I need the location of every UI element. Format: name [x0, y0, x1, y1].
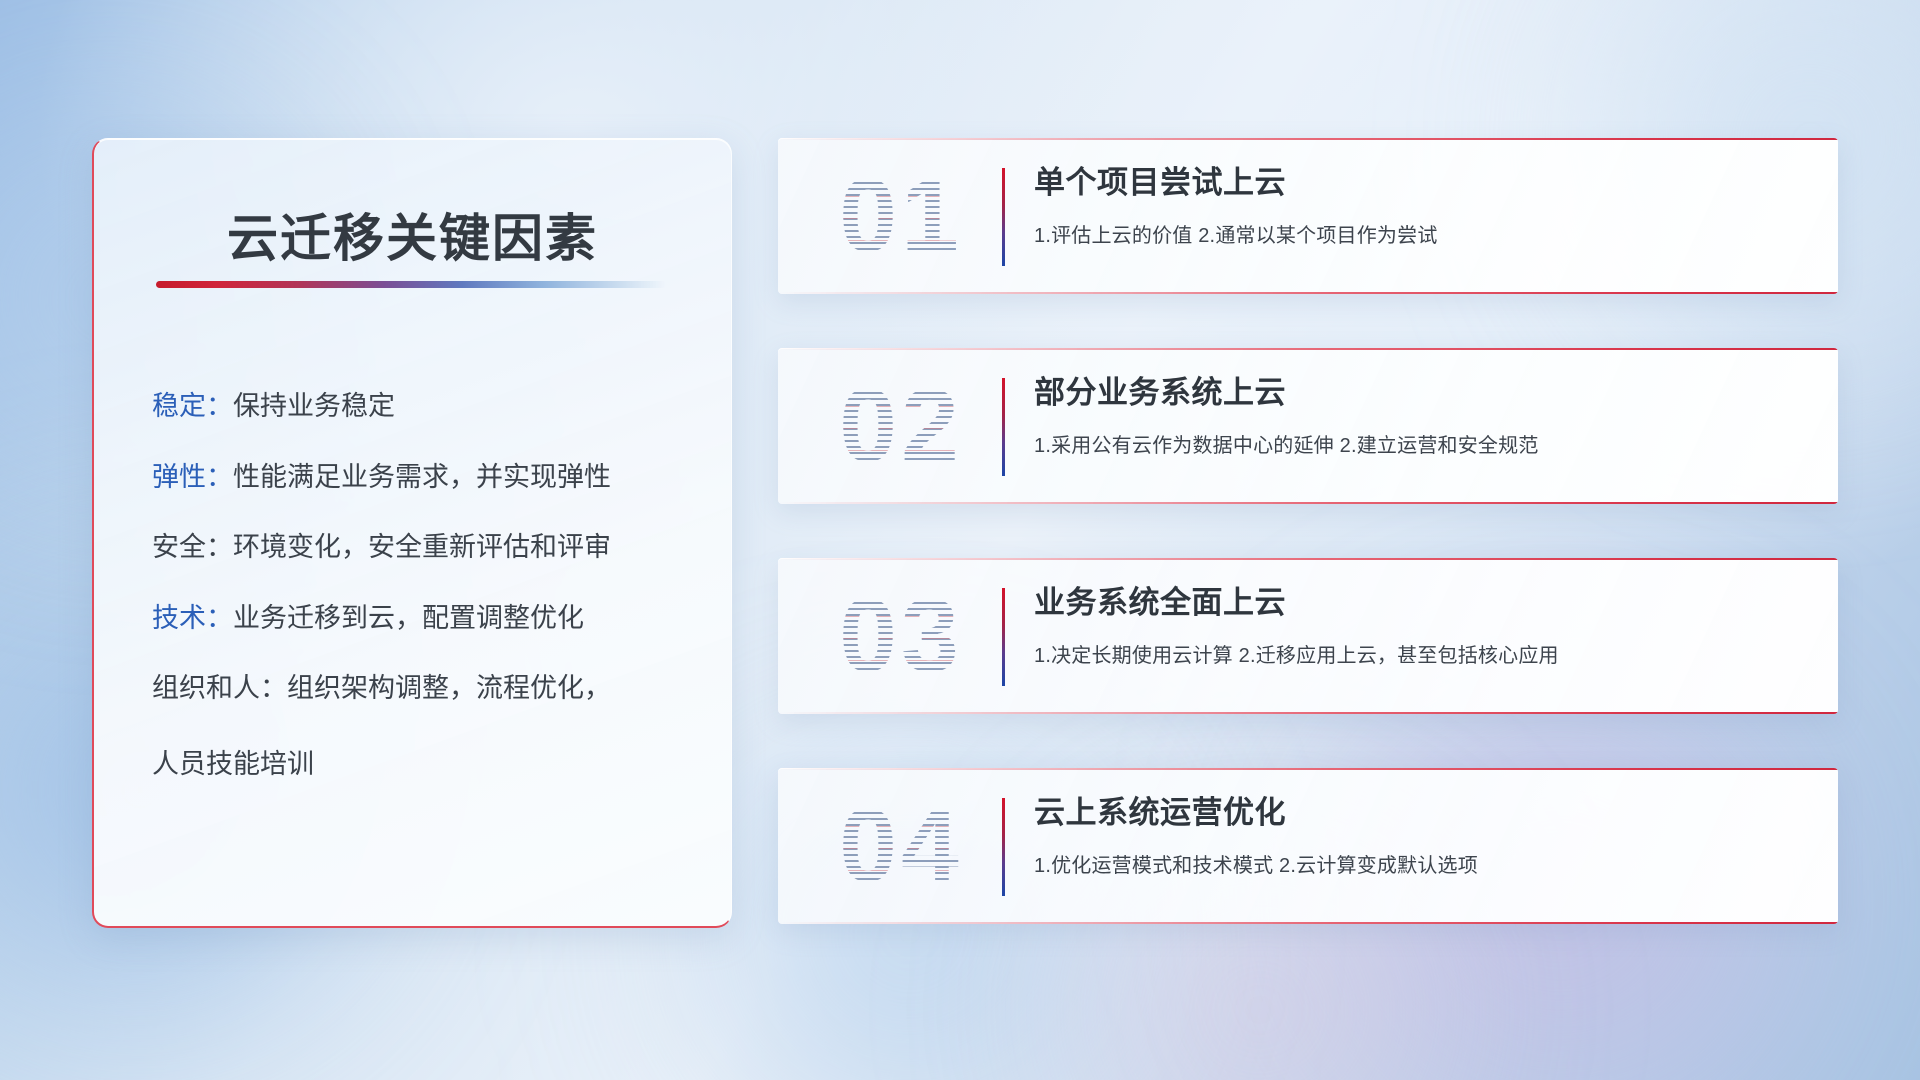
stage-card-body: 部分业务系统上云 1.采用公有云作为数据中心的延伸 2.建立运营和安全规范 [1034, 374, 1814, 458]
stage-card-list: 01 01 单个项目尝试上云 1.评估上云的价值 2.通常以某个项目作为尝试 0… [778, 138, 1838, 978]
factor-value: 组织架构调整，流程优化， [287, 671, 611, 706]
stage-number-03-tint: 03 [806, 572, 996, 700]
factor-value: 业务迁移到云，配置调整优化 [233, 601, 584, 636]
factor-item-elasticity: 弹性： 性能满足业务需求，并实现弹性 [152, 460, 697, 495]
stage-card-body: 单个项目尝试上云 1.评估上云的价值 2.通常以某个项目作为尝试 [1034, 164, 1814, 248]
stage-card-03[interactable]: 03 03 业务系统全面上云 1.决定长期使用云计算 2.迁移应用上云，甚至包括… [778, 558, 1838, 714]
stage-card-01[interactable]: 01 01 单个项目尝试上云 1.评估上云的价值 2.通常以某个项目作为尝试 [778, 138, 1838, 294]
factor-item-organization-continuation: 人员技能培训 [152, 742, 697, 781]
stage-number-01-tint: 01 [806, 152, 996, 280]
factor-list: 稳定： 保持业务稳定 弹性： 性能满足业务需求，并实现弹性 安全： 环境变化，安… [152, 389, 697, 817]
stage-card-description: 1.采用公有云作为数据中心的延伸 2.建立运营和安全规范 [1034, 429, 1814, 458]
stage-card-title: 部分业务系统上云 [1034, 374, 1814, 413]
factor-item-technology: 技术： 业务迁移到云，配置调整优化 [152, 601, 697, 636]
factor-key: 组织和人： [152, 671, 287, 706]
factor-item-stability: 稳定： 保持业务稳定 [152, 389, 697, 424]
stage-card-04[interactable]: 04 04 云上系统运营优化 1.优化运营模式和技术模式 2.云计算变成默认选项 [778, 768, 1838, 924]
factor-value: 环境变化，安全重新评估和评审 [233, 530, 611, 565]
accent-bar-icon [1002, 798, 1005, 896]
factor-item-security: 安全： 环境变化，安全重新评估和评审 [152, 530, 697, 565]
stage-number-02-tint: 02 [806, 362, 996, 490]
slide-stage: 云迁移关键因素 稳定： 保持业务稳定 弹性： 性能满足业务需求，并实现弹性 安全… [0, 0, 1920, 1080]
panel-title: 云迁移关键因素 [94, 197, 731, 271]
stage-card-title: 单个项目尝试上云 [1034, 164, 1814, 203]
factor-key: 技术： [152, 601, 233, 636]
factor-value: 性能满足业务需求，并实现弹性 [233, 460, 611, 495]
stage-card-body: 业务系统全面上云 1.决定长期使用云计算 2.迁移应用上云，甚至包括核心应用 [1034, 584, 1814, 668]
factor-key: 稳定： [152, 389, 233, 424]
key-factors-panel: 云迁移关键因素 稳定： 保持业务稳定 弹性： 性能满足业务需求，并实现弹性 安全… [92, 138, 732, 928]
title-underline-rule [156, 281, 666, 288]
stage-card-body: 云上系统运营优化 1.优化运营模式和技术模式 2.云计算变成默认选项 [1034, 794, 1814, 878]
accent-bar-icon [1002, 588, 1005, 686]
factor-value: 保持业务稳定 [233, 389, 395, 424]
factor-item-organization: 组织和人： 组织架构调整，流程优化， [152, 671, 697, 706]
accent-bar-icon [1002, 168, 1005, 266]
accent-bar-icon [1002, 378, 1005, 476]
stage-card-title: 云上系统运营优化 [1034, 794, 1814, 833]
stage-card-description: 1.优化运营模式和技术模式 2.云计算变成默认选项 [1034, 849, 1814, 878]
factor-key: 弹性： [152, 460, 233, 495]
stage-card-description: 1.决定长期使用云计算 2.迁移应用上云，甚至包括核心应用 [1034, 639, 1814, 668]
factor-key: 安全： [152, 530, 233, 565]
stage-card-title: 业务系统全面上云 [1034, 584, 1814, 623]
stage-card-02[interactable]: 02 02 部分业务系统上云 1.采用公有云作为数据中心的延伸 2.建立运营和安… [778, 348, 1838, 504]
stage-number-04-tint: 04 [806, 782, 996, 910]
stage-card-description: 1.评估上云的价值 2.通常以某个项目作为尝试 [1034, 219, 1814, 248]
